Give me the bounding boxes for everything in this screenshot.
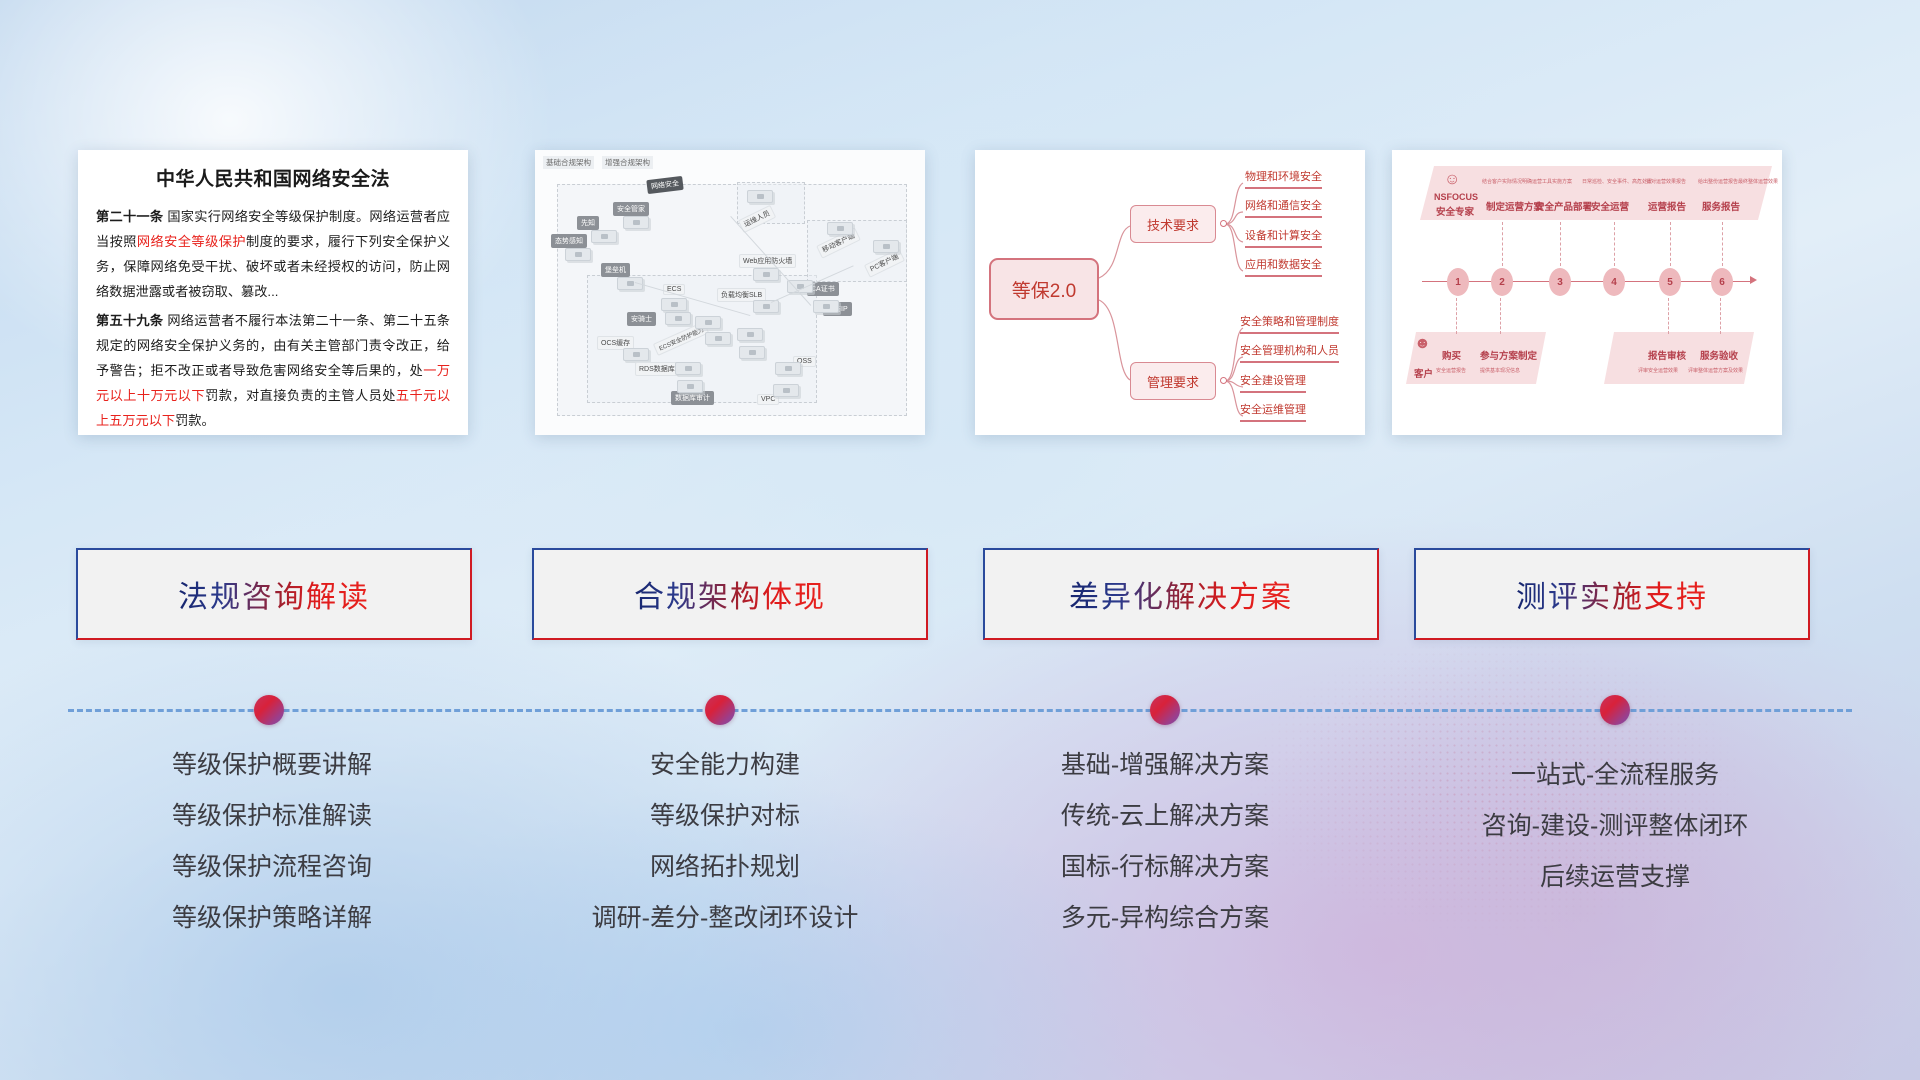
architecture-node-aegis: 安骑士 [627, 312, 656, 326]
connector-top-4 [1614, 222, 1615, 266]
section-items-column-4: 一站式-全流程服务 咨询-建设-测评整体闭环 后续运营支撑 [1395, 750, 1835, 903]
section-items-column-1: 等级保护概要讲解 等级保护标准解读 等级保护流程咨询 等级保护策略详解 [52, 740, 492, 944]
connector-bottom-1 [1456, 298, 1457, 334]
list-item: 一站式-全流程服务 [1395, 750, 1835, 801]
timeline-marker-4[interactable] [1600, 695, 1630, 725]
mindmap-leaf-tech-3: 设备和计算安全 [1245, 229, 1322, 248]
bottom-step-2-sub: 提供基本现况信息 [1480, 367, 1520, 374]
architecture-chip-db-audit [677, 380, 703, 393]
architecture-chip-pc-client [873, 240, 899, 253]
bottom-step-4-label: 服务验收 [1700, 348, 1738, 362]
cards-row: 中华人民共和国网络安全法 第二十一条 国家实行网络安全等级保护制度。网络运营者应… [0, 150, 1920, 445]
list-item: 咨询-建设-测评整体闭环 [1395, 801, 1835, 852]
law-seg-1-1: 网络安全等级保护 [137, 234, 246, 249]
list-item: 等级保护策略详解 [52, 893, 492, 944]
card-law-document[interactable]: 中华人民共和国网络安全法 第二十一条 国家实行网络安全等级保护制度。网络运营者应… [78, 150, 468, 435]
progress-timeline [0, 690, 1920, 730]
mindmap-leaf-tech-2: 网络和通信安全 [1245, 199, 1322, 218]
list-item: 国标-行标解决方案 [945, 842, 1385, 893]
timeline-marker-2[interactable] [705, 695, 735, 725]
list-item: 等级保护标准解读 [52, 791, 492, 842]
connector-bottom-6 [1720, 298, 1721, 334]
mindmap-leaf-tech-4: 应用和数据安全 [1245, 258, 1322, 277]
mindmap-canvas: 等保2.0 技术要求 物理和环境安全 网络和通信安全 设备和计算安全 应用和数据… [975, 150, 1365, 435]
card-mindmap[interactable]: 等保2.0 技术要求 物理和环境安全 网络和通信安全 设备和计算安全 应用和数据… [975, 150, 1365, 435]
mindmap-collapse-dot-management[interactable] [1220, 377, 1227, 384]
architecture-node-xianzhi: 先知 [577, 216, 599, 230]
timeline-step-5[interactable]: 5 [1659, 268, 1681, 296]
connector-top-6 [1722, 222, 1723, 266]
architecture-chip-oss [775, 362, 801, 375]
architecture-chip-mobile-client [827, 222, 853, 235]
top-step-3-sub: 日常巡检、安全事件、高危处置 [1582, 178, 1652, 185]
architecture-node-rds: RDS数据库 [635, 362, 679, 376]
architecture-canvas: 基础合规架构 增强合规架构 网络安全 安全管家 先知 态势感知 堡垒机 ECS [535, 150, 925, 435]
bottom-step-3-label: 报告审核 [1648, 348, 1686, 362]
timeline-step-4[interactable]: 4 [1603, 268, 1625, 296]
list-item: 调研-差分-整改闭环设计 [505, 893, 945, 944]
law-paragraph-2: 第五十九条 网络运营者不履行本法第二十一条、第二十五条规定的网络安全保护义务的，… [96, 308, 450, 433]
architecture-chip-security-butler [623, 216, 649, 229]
timeline-step-2[interactable]: 2 [1491, 268, 1513, 296]
section-titles-row: 法规咨询解读 合规架构体现 差异化解决方案 测评实施支持 [0, 548, 1920, 640]
slide-canvas: 中华人民共和国网络安全法 第二十一条 国家实行网络安全等级保护制度。网络运营者应… [0, 0, 1920, 1080]
list-item: 传统-云上解决方案 [945, 791, 1385, 842]
top-step-4-label: 运营报告 [1648, 199, 1686, 213]
architecture-chip-ecs-2 [695, 316, 721, 329]
law-title: 中华人民共和国网络安全法 [96, 164, 450, 191]
bottom-step-1-sub: 安全运营报告 [1436, 367, 1466, 374]
architecture-chip-slb [753, 300, 779, 313]
top-step-4-sub: 针对运营效果报告 [1646, 178, 1686, 185]
section-title-box-3[interactable]: 差异化解决方案 [983, 548, 1379, 640]
mindmap-collapse-dot-technical[interactable] [1220, 220, 1227, 227]
vendor-role-label: 安全专家 [1436, 204, 1474, 218]
mindmap-leaf-mgmt-4: 安全运维管理 [1240, 403, 1306, 422]
section-title-label-4: 测评实施支持 [1516, 572, 1708, 616]
connector-top-2 [1502, 222, 1503, 266]
top-step-2-label: 安全产品部署 [1535, 199, 1592, 213]
connector-top-5 [1670, 222, 1671, 266]
customer-role-label: 客户 [1414, 366, 1433, 380]
mindmap-branch-technical[interactable]: 技术要求 [1130, 205, 1216, 243]
architecture-chip-aegis [665, 312, 691, 325]
mindmap-leaf-tech-1: 物理和环境安全 [1245, 170, 1322, 189]
mindmap-leaf-mgmt-3: 安全建设管理 [1240, 374, 1306, 393]
section-title-label-2: 合规架构体现 [634, 572, 826, 616]
timeline-axis [1422, 281, 1752, 282]
timeline-dashed-line [68, 709, 1852, 712]
connector-bottom-2 [1500, 298, 1501, 334]
architecture-tab-enhanced[interactable]: 增强合规架构 [602, 156, 653, 169]
mindmap-branch-management[interactable]: 管理要求 [1130, 362, 1216, 400]
architecture-chip-vpc [773, 384, 799, 397]
architecture-chip-waf [753, 268, 779, 281]
list-item: 网络拓扑规划 [505, 842, 945, 893]
architecture-node-bastion-host: 堡垒机 [601, 263, 630, 277]
architecture-chip-xianzhi [591, 230, 617, 243]
top-step-5-label: 服务报告 [1702, 199, 1740, 213]
timeline-marker-1[interactable] [254, 695, 284, 725]
card-service-timeline[interactable]: ☺ NSFOCUS 安全专家 结合客户实际情况明确运营工具 制定运营方案 实施方… [1392, 150, 1782, 435]
timeline-step-3[interactable]: 3 [1549, 268, 1571, 296]
architecture-chip-ecs-3 [705, 332, 731, 345]
section-title-box-2[interactable]: 合规架构体现 [532, 548, 928, 640]
list-item: 基础-增强解决方案 [945, 740, 1385, 791]
section-items-row: 等级保护概要讲解 等级保护标准解读 等级保护流程咨询 等级保护策略详解 安全能力… [0, 740, 1920, 970]
bottom-step-1-label: 购买 [1442, 348, 1461, 362]
law-seg-2-2: 罚款，对直接负责的主管人员处 [205, 388, 396, 403]
mindmap-leaf-mgmt-1: 安全策略和管理制度 [1240, 315, 1339, 334]
vendor-brand-label: NSFOCUS [1434, 192, 1478, 202]
card-architecture-diagram[interactable]: 基础合规架构 增强合规架构 网络安全 安全管家 先知 态势感知 堡垒机 ECS [535, 150, 925, 435]
bottom-step-2-label: 参与方案制定 [1480, 348, 1537, 362]
list-item: 后续运营支撑 [1395, 852, 1835, 903]
law-article-label-1: 第二十一条 [96, 209, 163, 224]
section-title-label-1: 法规咨询解读 [178, 572, 370, 616]
law-article-label-2: 第五十九条 [96, 313, 163, 328]
architecture-chip-rds [675, 362, 701, 375]
architecture-node-db-audit: 数据库审计 [671, 391, 714, 405]
connector-bottom-5 [1668, 298, 1669, 334]
architecture-chip-situation-awareness [565, 248, 591, 261]
list-item: 安全能力构建 [505, 740, 945, 791]
timeline-marker-3[interactable] [1150, 695, 1180, 725]
list-item: 等级保护对标 [505, 791, 945, 842]
architecture-tabs: 基础合规架构 增强合规架构 [543, 156, 653, 169]
architecture-chip-ops-staff [747, 190, 773, 203]
architecture-tab-basic[interactable]: 基础合规架构 [543, 156, 594, 169]
section-items-column-3: 基础-增强解决方案 传统-云上解决方案 国标-行标解决方案 多元-异构综合方案 [945, 740, 1385, 944]
top-step-5-sub: 给出整份运营报告最终整体运营效果 [1698, 178, 1778, 185]
section-items-column-2: 安全能力构建 等级保护对标 网络拓扑规划 调研-差分-整改闭环设计 [505, 740, 945, 944]
section-title-box-1[interactable]: 法规咨询解读 [76, 548, 472, 640]
expert-avatar-icon: ☺ [1444, 172, 1460, 188]
law-paragraph-1: 第二十一条 国家实行网络安全等级保护制度。网络运营者应当按照网络安全等级保护制度… [96, 204, 450, 304]
top-step-2-sub: 实施方案 [1552, 178, 1572, 185]
top-step-1-sub: 结合客户实际情况明确运营工具 [1482, 178, 1552, 185]
timeline-step-1[interactable]: 1 [1447, 268, 1469, 296]
timeline-arrow-icon [1750, 276, 1757, 284]
mindmap-root-node[interactable]: 等保2.0 [989, 258, 1099, 320]
list-item: 多元-异构综合方案 [945, 893, 1385, 944]
list-item: 等级保护流程咨询 [52, 842, 492, 893]
architecture-chip-ecs [661, 298, 687, 311]
top-step-3-label: 安全运营 [1591, 199, 1629, 213]
law-content: 中华人民共和国网络安全法 第二十一条 国家实行网络安全等级保护制度。网络运营者应… [78, 150, 468, 435]
architecture-chip-anti-ddos [813, 300, 839, 313]
architecture-node-situation-awareness: 态势感知 [551, 234, 587, 248]
list-item: 等级保护概要讲解 [52, 740, 492, 791]
customer-avatar-icon: ☻ [1414, 336, 1431, 352]
section-title-label-3: 差异化解决方案 [1069, 572, 1293, 616]
service-timeline-canvas: ☺ NSFOCUS 安全专家 结合客户实际情况明确运营工具 制定运营方案 实施方… [1392, 150, 1782, 435]
architecture-node-security-butler: 安全管家 [613, 202, 649, 216]
law-seg-2-4: 罚款。 [175, 413, 215, 428]
architecture-chip-ocs [623, 348, 649, 361]
bottom-step-4-sub: 评审整体运营方案及效果 [1688, 367, 1743, 374]
mindmap-leaf-mgmt-2: 安全管理机构和人员 [1240, 344, 1339, 363]
connector-top-3 [1560, 222, 1561, 266]
timeline-step-6[interactable]: 6 [1711, 268, 1733, 296]
bottom-step-3-sub: 评审安全运营效果 [1638, 367, 1678, 374]
section-title-box-4[interactable]: 测评实施支持 [1414, 548, 1810, 640]
architecture-chip-ecs-4 [737, 328, 763, 341]
architecture-chip-ecs-5 [739, 346, 765, 359]
